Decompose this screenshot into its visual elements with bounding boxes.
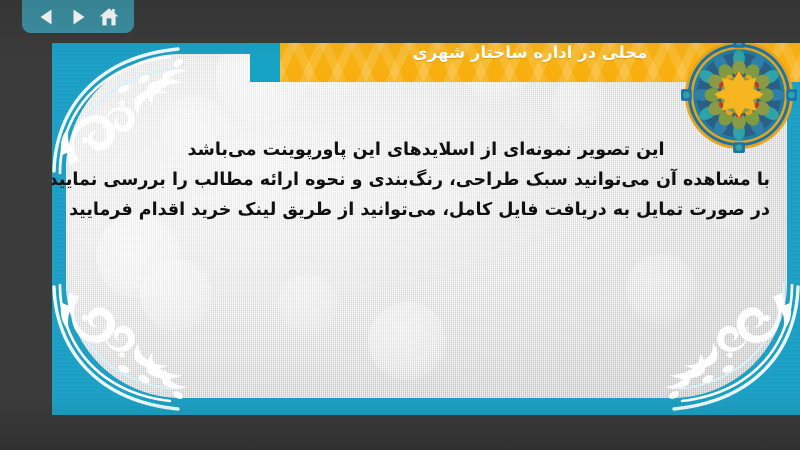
back-button[interactable]: [34, 4, 60, 30]
slide-viewer: این تصویر نمونه‌ای از اسلایدهای این پاور…: [0, 0, 800, 450]
body-line-1: این تصویر نمونه‌ای از اسلایدهای این پاور…: [82, 135, 770, 165]
body-line-3: در صورت تمایل به دریافت فایل کامل، می‌تو…: [82, 195, 770, 225]
home-button[interactable]: [96, 4, 122, 30]
title-line-2: محلی در اداره ساختار شهری: [413, 43, 648, 64]
bokeh-circle: [552, 78, 604, 130]
slide-body-text: این تصویر نمونه‌ای از اسلایدهای این پاور…: [52, 135, 800, 225]
presentation-slide: این تصویر نمونه‌ای از اسلایدهای این پاور…: [52, 43, 800, 415]
bokeh-circle: [96, 214, 180, 298]
bokeh-circle: [368, 302, 446, 380]
slide-content-panel: [66, 54, 787, 398]
triangle-right-icon: [68, 7, 88, 27]
triangle-left-icon: [37, 7, 57, 27]
bokeh-circle: [626, 254, 696, 324]
slide-title-banner: ارائه مدل مدیریتی برای ارتقاء نقش نهادها…: [250, 43, 800, 82]
forward-button[interactable]: [65, 4, 91, 30]
body-line-2: با مشاهده آن می‌توانید سبک طراحی، رنگ‌بن…: [82, 165, 770, 195]
home-icon: [98, 6, 120, 28]
page-title: ارائه مدل مدیریتی برای ارتقاء نقش نهادها…: [250, 43, 800, 82]
bokeh-circle: [278, 274, 338, 334]
navigation-toolbar: [22, 0, 134, 33]
bokeh-circle: [140, 259, 212, 331]
